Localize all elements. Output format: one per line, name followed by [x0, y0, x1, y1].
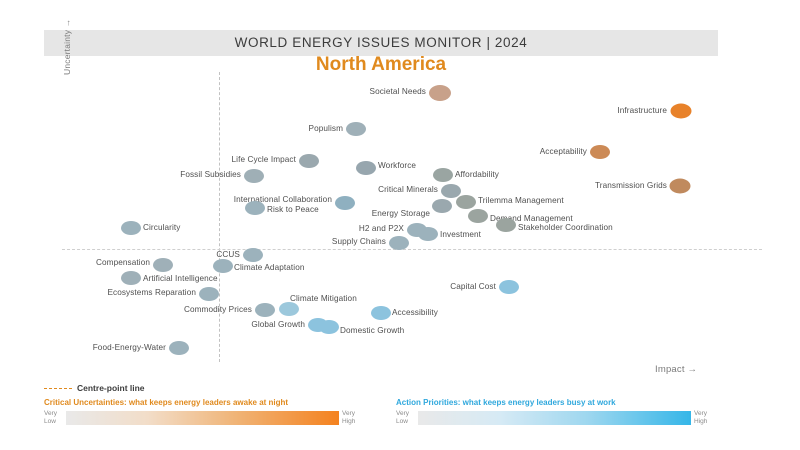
issue-label: H2 and P2X — [359, 224, 404, 234]
issue-bubble[interactable] — [433, 168, 453, 182]
issue-bubble[interactable] — [441, 184, 461, 198]
uncertainty-scale-low-line2: Low — [44, 418, 66, 426]
action-priorities-legend: Action Priorities: what keeps energy lea… — [396, 398, 716, 426]
issue-bubble[interactable] — [432, 199, 452, 213]
issue-label: Life Cycle Impact — [232, 155, 297, 165]
issue-bubble[interactable] — [213, 259, 233, 273]
issue-label: Artificial Intelligence — [143, 274, 218, 284]
uncertainty-legend-caption: Critical Uncertainties: what keeps energ… — [44, 398, 364, 407]
issue-bubble[interactable] — [169, 341, 189, 355]
issue-label: Climate Mitigation — [290, 294, 357, 304]
y-axis-label-text: Uncertainty → — [62, 0, 72, 75]
issue-bubble[interactable] — [299, 154, 319, 168]
issue-label: Circularity — [143, 223, 181, 233]
issue-bubble[interactable] — [255, 303, 275, 317]
uncertainty-scale-high-line2: High — [342, 418, 364, 426]
issue-bubble[interactable] — [121, 221, 141, 235]
issue-bubble[interactable] — [346, 122, 366, 136]
issue-label: Energy Storage — [372, 209, 430, 219]
action-scale-high: Very High — [691, 410, 716, 426]
uncertainty-scale-row: Very Low Very High — [44, 410, 364, 426]
action-scale-row: Very Low Very High — [396, 410, 716, 426]
issue-label: Populism — [309, 124, 343, 134]
issue-label: Ecosystems Reparation — [107, 288, 196, 298]
issue-bubble[interactable] — [418, 227, 438, 241]
issue-label: Accessibility — [392, 308, 438, 318]
issue-label: Investment — [440, 230, 481, 240]
issue-label: Transmission Grids — [595, 181, 667, 191]
uncertainty-scale-low-line1: Very — [44, 410, 66, 418]
uncertainty-legend: Critical Uncertainties: what keeps energ… — [44, 398, 364, 426]
issue-bubble[interactable] — [244, 169, 264, 183]
issue-bubble[interactable] — [590, 145, 610, 159]
y-axis-label: Uncertainty → — [62, 0, 76, 75]
centre-point-horizontal-line — [62, 249, 762, 250]
centre-point-legend-label: Centre-point line — [77, 383, 145, 393]
issue-bubble[interactable] — [279, 302, 299, 316]
legend: Centre-point line Critical Uncertainties… — [44, 382, 756, 432]
issue-label: Critical Minerals — [378, 185, 438, 195]
issue-bubble[interactable] — [199, 287, 219, 301]
issue-bubble[interactable] — [245, 201, 265, 215]
uncertainty-scale-low: Very Low — [44, 410, 66, 426]
issue-label: Fossil Subsidies — [180, 170, 241, 180]
issue-bubble[interactable] — [670, 179, 691, 194]
issue-label: Supply Chains — [332, 237, 386, 247]
action-scale-high-line2: High — [694, 418, 716, 426]
dashed-line-icon — [44, 388, 72, 389]
issue-bubble[interactable] — [496, 218, 516, 232]
issue-label: Workforce — [378, 161, 416, 171]
issue-bubble[interactable] — [335, 196, 355, 210]
issue-label: Commodity Prices — [184, 305, 252, 315]
action-scale-high-line1: Very — [694, 410, 716, 418]
issue-label: Domestic Growth — [340, 326, 404, 336]
uncertainty-gradient-bar — [66, 411, 339, 425]
x-axis-label: Impact → — [655, 364, 697, 375]
issue-bubble[interactable] — [671, 104, 692, 119]
issue-bubble[interactable] — [389, 236, 409, 250]
issue-label: Compensation — [96, 258, 150, 268]
action-scale-low: Very Low — [396, 410, 418, 426]
issue-bubble[interactable] — [468, 209, 488, 223]
action-scale-low-line2: Low — [396, 418, 418, 426]
uncertainty-scale-high-line1: Very — [342, 410, 364, 418]
issue-bubble[interactable] — [319, 320, 339, 334]
issue-label: Capital Cost — [450, 282, 496, 292]
centre-point-vertical-line — [219, 72, 220, 362]
issue-bubble[interactable] — [243, 248, 263, 262]
issue-label: Food-Energy-Water — [93, 343, 166, 353]
issue-label: Societal Needs — [370, 87, 426, 97]
issue-bubble[interactable] — [356, 161, 376, 175]
issue-bubble[interactable] — [121, 271, 141, 285]
issue-label: Stakeholder Coordination — [518, 223, 613, 233]
issue-label: Trilemma Management — [478, 196, 564, 206]
action-legend-caption: Action Priorities: what keeps energy lea… — [396, 398, 716, 407]
centre-point-legend-row: Centre-point line — [44, 382, 145, 394]
issue-bubble[interactable] — [456, 195, 476, 209]
issue-label: Global Growth — [251, 320, 305, 330]
action-gradient-bar — [418, 411, 691, 425]
issue-label: Infrastructure — [617, 106, 667, 116]
issue-bubble[interactable] — [153, 258, 173, 272]
issue-bubble[interactable] — [499, 280, 519, 294]
issue-label: Affordability — [455, 170, 499, 180]
issue-bubble[interactable] — [371, 306, 391, 320]
uncertainty-scale-high: Very High — [339, 410, 364, 426]
action-scale-low-line1: Very — [396, 410, 418, 418]
issue-label: Acceptability — [540, 147, 587, 157]
issue-label: Climate Adaptation — [234, 263, 305, 273]
issues-monitor-page: WORLD ENERGY ISSUES MONITOR | 2024 North… — [0, 0, 800, 450]
issue-bubble[interactable] — [429, 85, 451, 101]
issue-label: Risk to Peace — [267, 205, 319, 215]
